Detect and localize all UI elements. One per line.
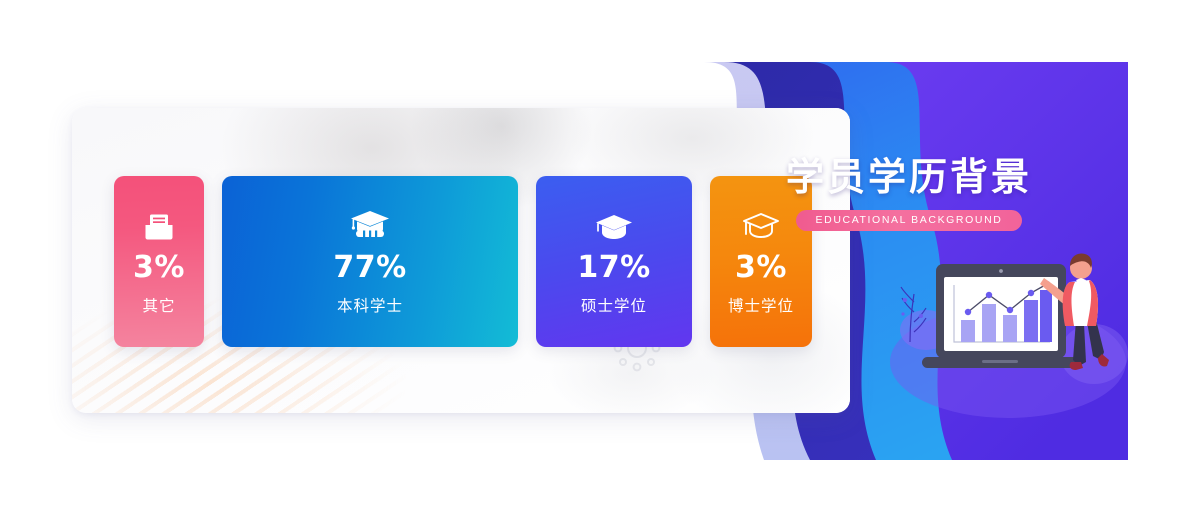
graduation-cap-solid-icon (595, 207, 633, 241)
stat-percent: 3% (133, 253, 185, 283)
stat-percent: 3% (735, 253, 787, 283)
stat-percent: 77% (333, 253, 406, 283)
stat-cards-row: 3% 其它 77% (114, 176, 812, 347)
stat-label: 博士学位 (728, 294, 794, 316)
stat-card-master[interactable]: 17% 硕士学位 (536, 176, 692, 347)
infographic-canvas: 学员学历背景 EDUCATIONAL BACKGROUND (0, 0, 1200, 512)
stat-label: 硕士学位 (581, 294, 647, 316)
stat-percent: 17% (577, 253, 650, 283)
archive-tray-icon (144, 207, 174, 241)
graduation-cap-diploma-icon (350, 207, 390, 241)
stats-panel: 3% 其它 77% (72, 108, 850, 413)
stat-card-other[interactable]: 3% 其它 (114, 176, 204, 347)
graduation-cap-outline-icon (742, 207, 780, 241)
stat-card-doctor[interactable]: 3% 博士学位 (710, 176, 812, 347)
stat-label: 本科学士 (337, 294, 403, 316)
stat-label: 其它 (142, 294, 175, 316)
stat-card-bachelor[interactable]: 77% 本科学士 (222, 176, 518, 347)
